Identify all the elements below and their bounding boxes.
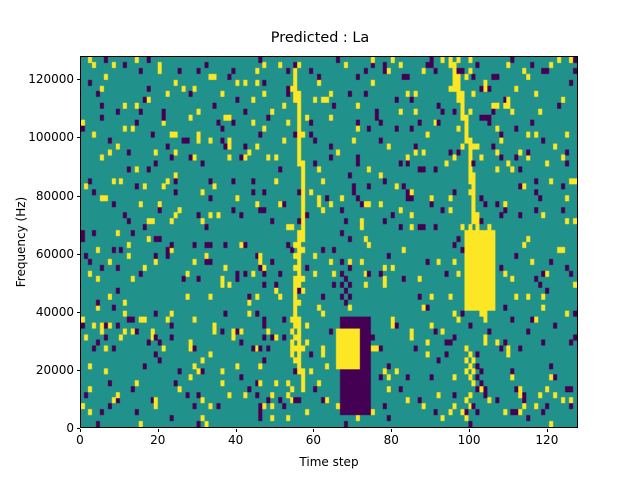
matplotlib-figure: Predicted : La Frequency (Hz) Time step … [0, 0, 640, 480]
y-tick-label: 40000 [36, 306, 74, 318]
heatmap-axes [80, 56, 578, 428]
y-axis-label: Frequency (Hz) [14, 56, 28, 428]
x-tick-mark [313, 429, 314, 433]
page-title: Predicted : La [0, 30, 640, 47]
y-tick-mark [77, 79, 81, 80]
y-tick-label: 120000 [28, 73, 74, 85]
x-tick-label: 120 [535, 434, 558, 446]
y-tick-label: 100000 [28, 131, 74, 143]
x-tick-mark [469, 429, 470, 433]
y-tick-mark [77, 137, 81, 138]
heatmap-image [81, 57, 577, 427]
x-tick-label: 0 [76, 434, 84, 446]
x-tick-mark [236, 429, 237, 433]
y-tick-label: 20000 [36, 364, 74, 376]
x-tick-mark [80, 429, 81, 433]
x-axis-label: Time step [80, 455, 578, 469]
x-tick-label: 60 [306, 434, 321, 446]
x-tick-label: 20 [150, 434, 165, 446]
y-tick-mark [77, 254, 81, 255]
y-tick-label: 80000 [36, 190, 74, 202]
x-tick-mark [547, 429, 548, 433]
x-tick-mark [391, 429, 392, 433]
y-tick-label: 0 [66, 422, 74, 434]
y-tick-mark [77, 370, 81, 371]
y-tick-mark [77, 312, 81, 313]
y-tick-label: 60000 [36, 248, 74, 260]
x-tick-label: 80 [384, 434, 399, 446]
x-tick-label: 100 [458, 434, 481, 446]
y-tick-mark [77, 196, 81, 197]
x-tick-mark [158, 429, 159, 433]
x-tick-label: 40 [228, 434, 243, 446]
